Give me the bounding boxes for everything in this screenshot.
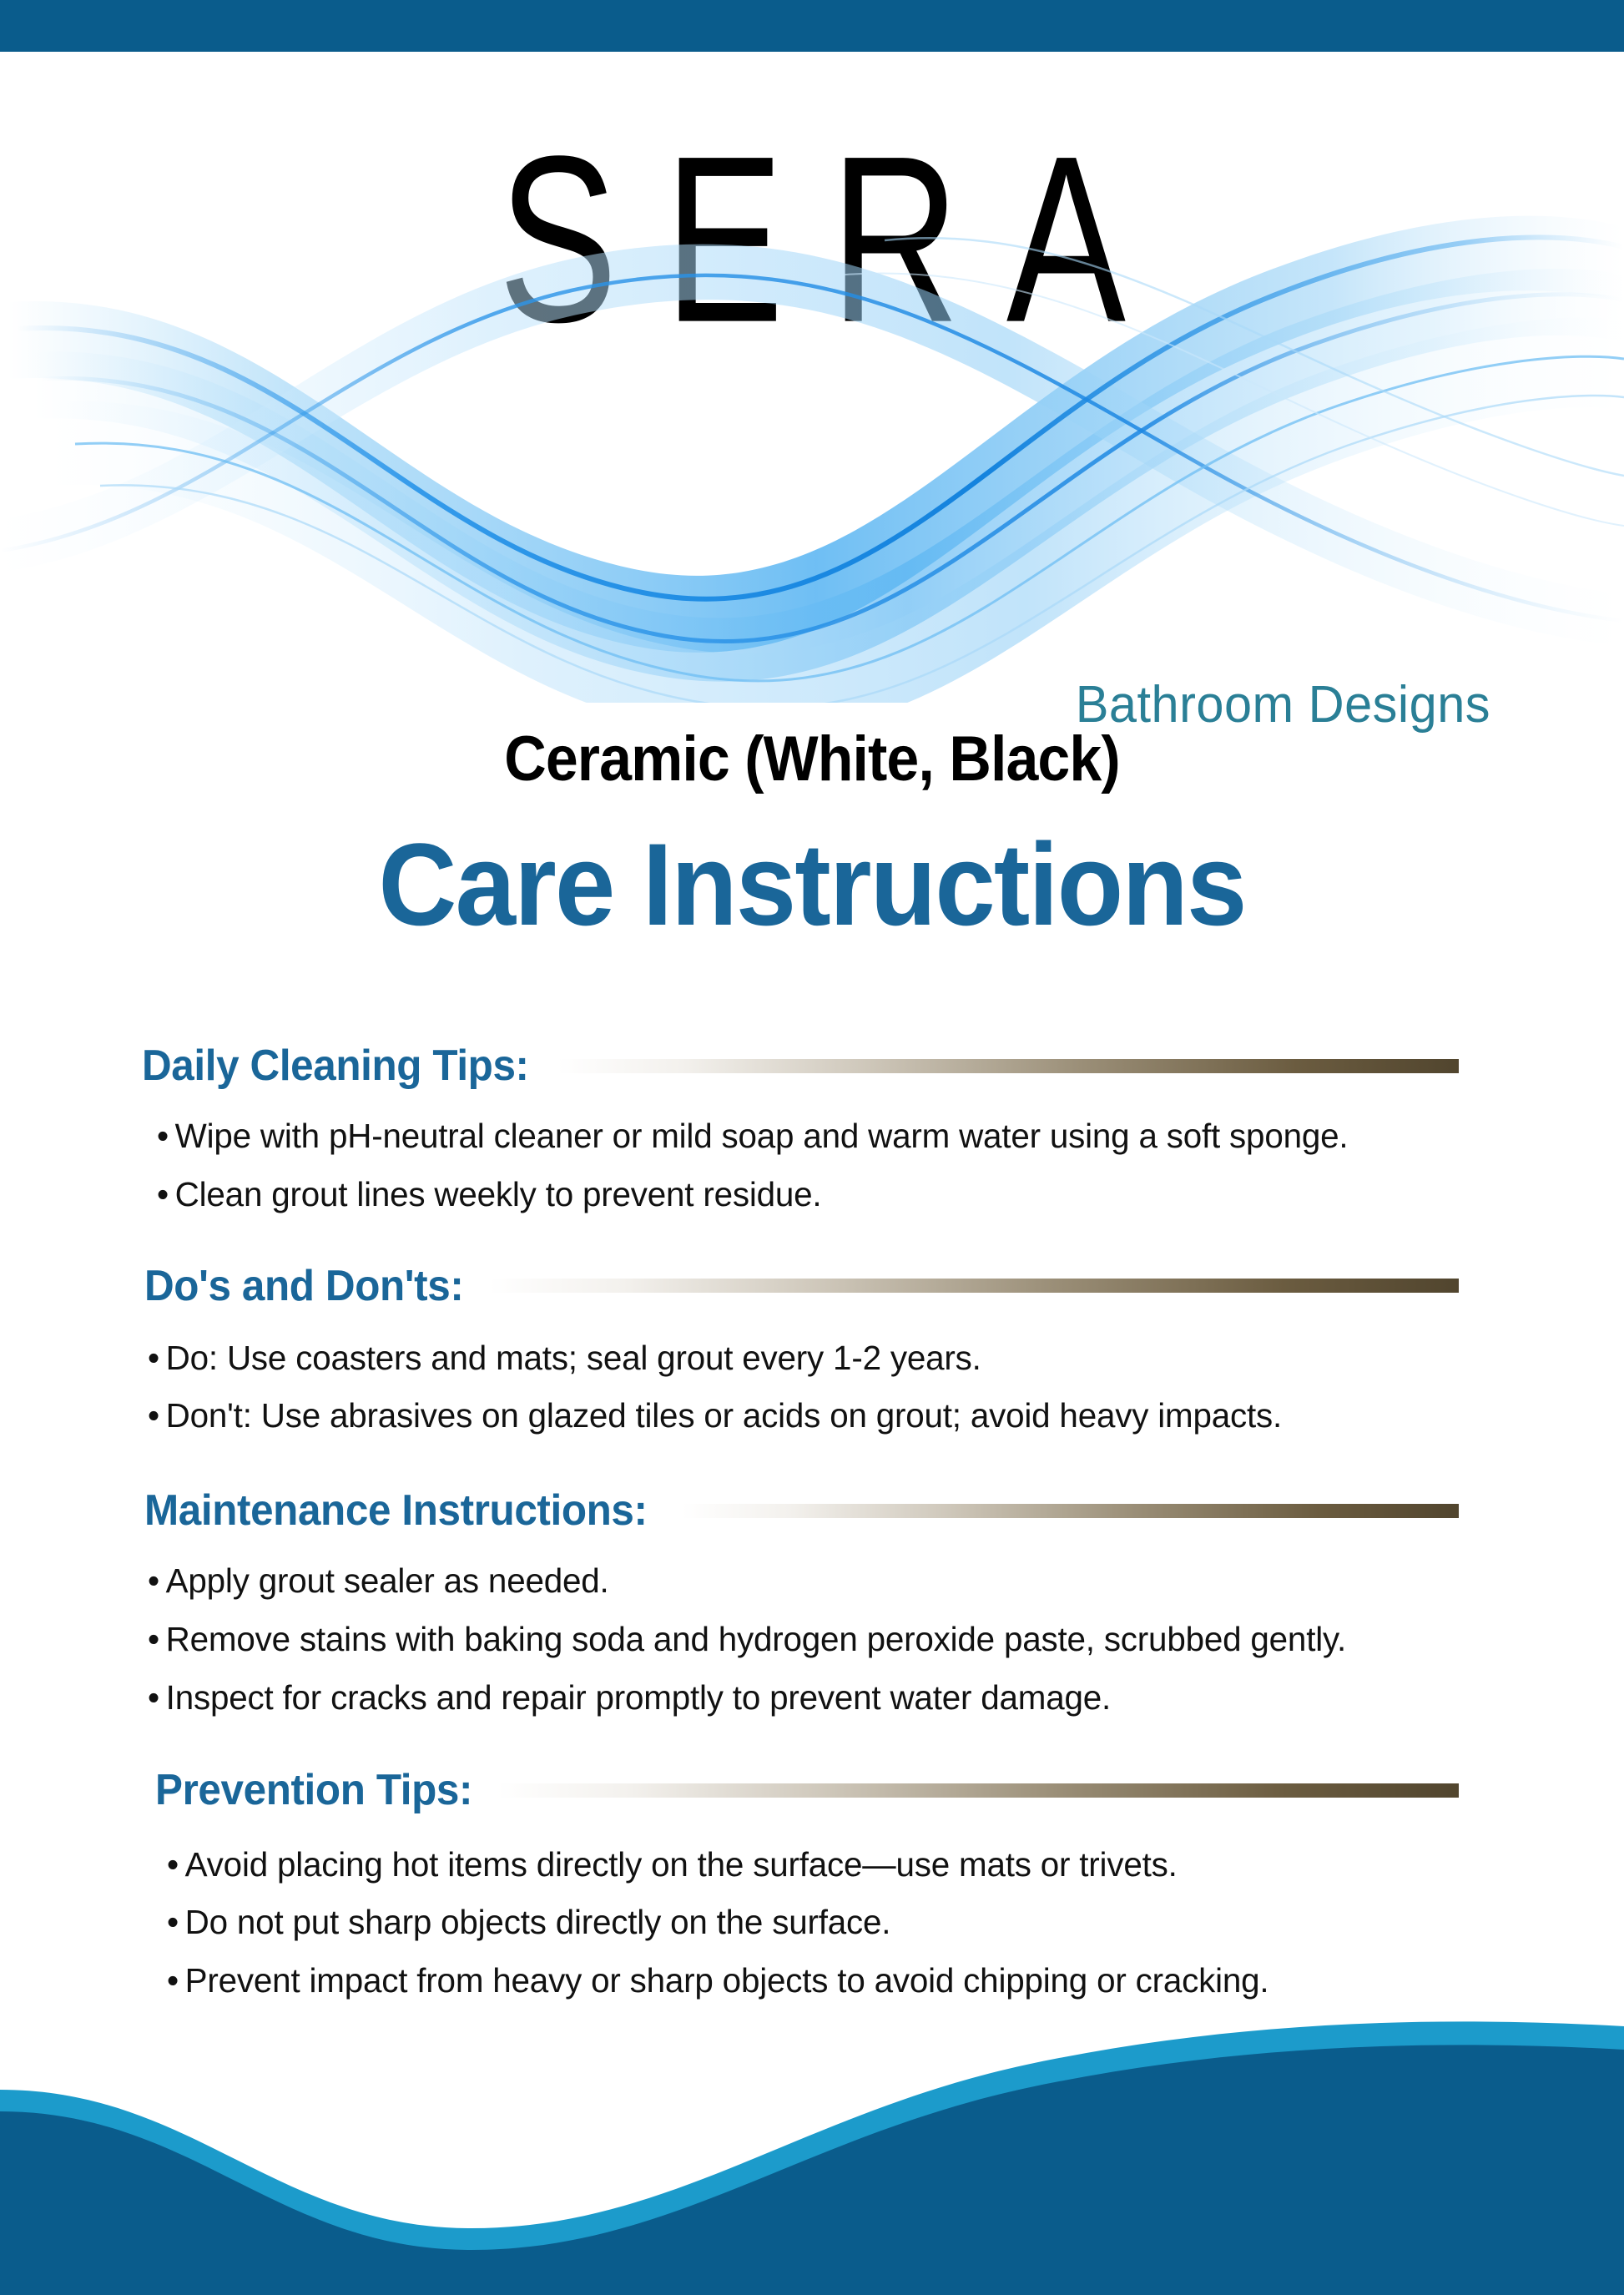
list-item-text: Prevent impact from heavy or sharp objec… bbox=[185, 1960, 1440, 2003]
section-heading: Do's and Don'ts: bbox=[144, 1262, 463, 1310]
list-item-text: Avoid placing hot items directly on the … bbox=[185, 1844, 1440, 1887]
list-item: • Inspect for cracks and repair promptly… bbox=[148, 1677, 1439, 1720]
care-instructions-poster: SERA bbox=[0, 0, 1624, 2295]
bullet-dot-icon: • bbox=[148, 1560, 166, 1603]
list-item-text: Do not put sharp objects directly on the… bbox=[185, 1901, 1440, 1944]
bullet-dot-icon: • bbox=[148, 1618, 166, 1662]
list-item-text: Don't: Use abrasives on glazed tiles or … bbox=[166, 1395, 1440, 1438]
list-item-text: Do: Use coasters and mats; seal grout ev… bbox=[166, 1337, 1440, 1380]
list-item: • Do not put sharp objects directly on t… bbox=[167, 1901, 1440, 1944]
list-item: • Clean grout lines weekly to prevent re… bbox=[157, 1173, 1440, 1217]
section-maintenance-instructions: Maintenance Instructions: • Apply grout … bbox=[144, 1486, 1459, 1719]
list-item: • Wipe with pH-neutral cleaner or mild s… bbox=[157, 1115, 1440, 1158]
section-header: Do's and Don'ts: bbox=[144, 1262, 1459, 1310]
list-item: • Remove stains with baking soda and hyd… bbox=[148, 1618, 1439, 1662]
bullet-dot-icon: • bbox=[148, 1677, 166, 1720]
bullet-dot-icon: • bbox=[148, 1395, 166, 1438]
top-accent-bar bbox=[0, 0, 1624, 52]
section-header: Daily Cleaning Tips: bbox=[142, 1042, 1459, 1090]
section-bullet-list: • Apply grout sealer as needed. • Remove… bbox=[148, 1560, 1459, 1719]
section-dos-and-donts: Do's and Don'ts: • Do: Use coasters and … bbox=[144, 1262, 1459, 1439]
bullet-dot-icon: • bbox=[167, 1960, 185, 2003]
section-heading: Prevention Tips: bbox=[155, 1766, 472, 1814]
list-item: • Don't: Use abrasives on glazed tiles o… bbox=[148, 1395, 1439, 1438]
section-heading: Maintenance Instructions: bbox=[144, 1486, 648, 1535]
list-item: • Prevent impact from heavy or sharp obj… bbox=[167, 1960, 1440, 2003]
brand-tagline: Bathroom Designs bbox=[1076, 679, 1490, 731]
section-header: Prevention Tips: bbox=[155, 1766, 1459, 1814]
sera-logo-wordmark: SERA bbox=[163, 120, 1462, 357]
list-item-text: Wipe with pH-neutral cleaner or mild soa… bbox=[175, 1115, 1440, 1158]
bullet-dot-icon: • bbox=[148, 1337, 166, 1380]
section-heading: Daily Cleaning Tips: bbox=[142, 1042, 529, 1090]
bullet-dot-icon: • bbox=[167, 1901, 185, 1944]
bullet-dot-icon: • bbox=[157, 1115, 175, 1158]
list-item: • Do: Use coasters and mats; seal grout … bbox=[148, 1337, 1439, 1380]
section-divider-rule bbox=[682, 1504, 1459, 1518]
section-daily-cleaning-tips: Daily Cleaning Tips: • Wipe with pH-neut… bbox=[142, 1042, 1459, 1217]
bullet-dot-icon: • bbox=[167, 1844, 185, 1887]
brand-header: SERA bbox=[0, 52, 1624, 703]
list-item-text: Inspect for cracks and repair promptly t… bbox=[166, 1677, 1440, 1720]
section-bullet-list: • Do: Use coasters and mats; seal grout … bbox=[148, 1337, 1459, 1438]
instruction-sections: Daily Cleaning Tips: • Wipe with pH-neut… bbox=[0, 1042, 1624, 2018]
section-bullet-list: • Avoid placing hot items directly on th… bbox=[167, 1844, 1459, 2003]
section-header: Maintenance Instructions: bbox=[144, 1486, 1459, 1535]
list-item-text: Remove stains with baking soda and hydro… bbox=[166, 1618, 1440, 1662]
bullet-dot-icon: • bbox=[157, 1173, 175, 1217]
list-item-text: Clean grout lines weekly to prevent resi… bbox=[175, 1173, 1440, 1217]
section-divider-rule bbox=[557, 1059, 1459, 1073]
page-title: Care Instructions bbox=[57, 826, 1567, 943]
list-item-text: Apply grout sealer as needed. bbox=[166, 1560, 1440, 1603]
list-item: • Apply grout sealer as needed. bbox=[148, 1560, 1439, 1603]
product-subtitle: Ceramic (White, Black) bbox=[65, 728, 1559, 791]
section-divider-rule bbox=[489, 1279, 1459, 1293]
list-item: • Avoid placing hot items directly on th… bbox=[167, 1844, 1440, 1887]
section-bullet-list: • Wipe with pH-neutral cleaner or mild s… bbox=[157, 1115, 1459, 1216]
section-divider-rule bbox=[497, 1783, 1459, 1798]
section-prevention-tips: Prevention Tips: • Avoid placing hot ite… bbox=[155, 1766, 1459, 2002]
footer-wave-graphic bbox=[0, 2020, 1624, 2295]
